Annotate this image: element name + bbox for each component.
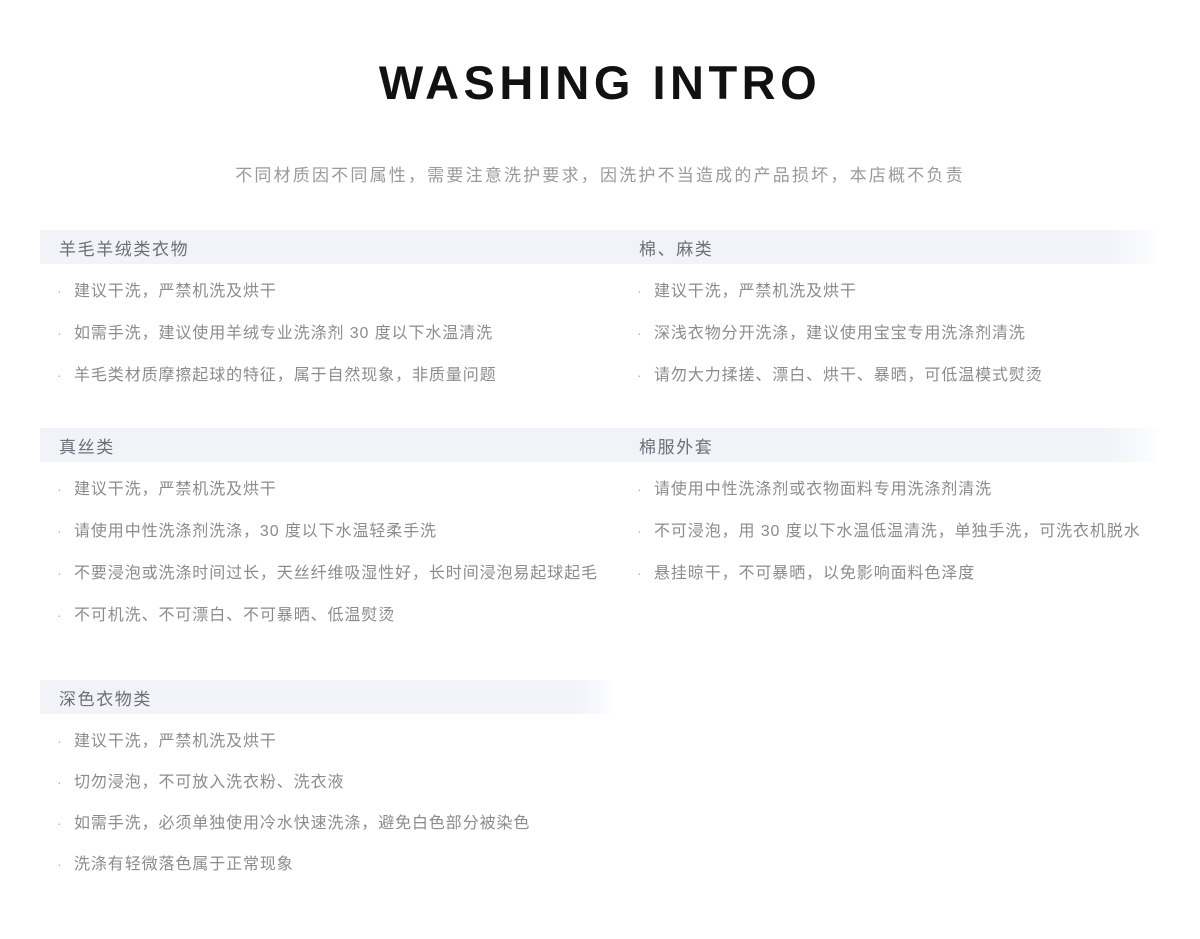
list-item: · 建议干洗，严禁机洗及烘干 xyxy=(57,476,620,503)
list-item: · 建议干洗，严禁机洗及烘干 xyxy=(57,278,620,305)
section-row-3-spacer xyxy=(620,680,1160,880)
list-item-text: 不可浸泡，用 30 度以下水温低温清洗，单独手洗，可洗衣机脱水 xyxy=(654,518,1160,545)
bullet-icon: · xyxy=(57,476,63,503)
list-item: · 羊毛类材质摩擦起球的特征，属于自然现象，非质量问题 xyxy=(57,362,620,389)
list-item-text: 深浅衣物分开洗涤，建议使用宝宝专用洗涤剂清洗 xyxy=(654,320,1160,347)
list-item: · 如需手洗，建议使用羊绒专业洗涤剂 30 度以下水温清洗 xyxy=(57,320,620,347)
list-item-text: 建议干洗，严禁机洗及烘干 xyxy=(74,278,620,305)
list-item-text: 建议干洗，严禁机洗及烘干 xyxy=(74,476,620,503)
section-title-padded-coat: 棉服外套 xyxy=(620,428,1160,462)
bullet-icon: · xyxy=(57,810,63,837)
list-item-text: 羊毛类材质摩擦起球的特征，属于自然现象，非质量问题 xyxy=(74,362,620,389)
list-item: · 建议干洗，严禁机洗及烘干 xyxy=(637,278,1160,305)
care-sections: 羊毛羊绒类衣物 · 建议干洗，严禁机洗及烘干 · 如需手洗，建议使用羊绒专业洗涤… xyxy=(40,230,1160,880)
section-padded-coat: 棉服外套 · 请使用中性洗涤剂或衣物面料专用洗涤剂清洗 · 不可浸泡，用 30 … xyxy=(620,428,1160,680)
page-subtitle: 不同材质因不同属性，需要注意洗护要求，因洗护不当造成的产品损坏，本店概不负责 xyxy=(0,162,1200,190)
list-item: · 建议干洗，严禁机洗及烘干 xyxy=(57,728,620,755)
list-item-text: 洗涤有轻微落色属于正常现象 xyxy=(74,851,620,878)
section-list-silk: · 建议干洗，严禁机洗及烘干 · 请使用中性洗涤剂洗涤，30 度以下水温轻柔手洗… xyxy=(40,476,620,629)
section-list-dark-clothes: · 建议干洗，严禁机洗及烘干 · 切勿浸泡，不可放入洗衣粉、洗衣液 · 如需手洗… xyxy=(40,728,620,878)
list-item: · 切勿浸泡，不可放入洗衣粉、洗衣液 xyxy=(57,769,620,796)
bullet-icon: · xyxy=(57,851,63,878)
list-item: · 请使用中性洗涤剂或衣物面料专用洗涤剂清洗 xyxy=(637,476,1160,503)
list-item: · 请使用中性洗涤剂洗涤，30 度以下水温轻柔手洗 xyxy=(57,518,620,545)
list-item-text: 不要浸泡或洗涤时间过长，天丝纤维吸湿性好，长时间浸泡易起球起毛 xyxy=(74,560,620,587)
bullet-icon: · xyxy=(637,320,643,347)
list-item: · 不可浸泡，用 30 度以下水温低温清洗，单独手洗，可洗衣机脱水 xyxy=(637,518,1160,545)
section-silk: 真丝类 · 建议干洗，严禁机洗及烘干 · 请使用中性洗涤剂洗涤，30 度以下水温… xyxy=(40,428,620,680)
section-row-1: 羊毛羊绒类衣物 · 建议干洗，严禁机洗及烘干 · 如需手洗，建议使用羊绒专业洗涤… xyxy=(40,230,1160,428)
list-item-text: 请勿大力揉搓、漂白、烘干、暴晒，可低温模式熨烫 xyxy=(654,362,1160,389)
list-item-text: 请使用中性洗涤剂或衣物面料专用洗涤剂清洗 xyxy=(654,476,1160,503)
bullet-icon: · xyxy=(57,602,63,629)
bullet-icon: · xyxy=(57,769,63,796)
bullet-icon: · xyxy=(57,728,63,755)
bullet-icon: · xyxy=(637,518,643,545)
section-list-wool-cashmere: · 建议干洗，严禁机洗及烘干 · 如需手洗，建议使用羊绒专业洗涤剂 30 度以下… xyxy=(40,278,620,389)
list-item: · 请勿大力揉搓、漂白、烘干、暴晒，可低温模式熨烫 xyxy=(637,362,1160,389)
bullet-icon: · xyxy=(57,362,63,389)
list-item-text: 切勿浸泡，不可放入洗衣粉、洗衣液 xyxy=(74,769,620,796)
page-title: WASHING INTRO xyxy=(0,52,1200,114)
list-item-text: 如需手洗，建议使用羊绒专业洗涤剂 30 度以下水温清洗 xyxy=(74,320,620,347)
section-wool-cashmere: 羊毛羊绒类衣物 · 建议干洗，严禁机洗及烘干 · 如需手洗，建议使用羊绒专业洗涤… xyxy=(40,230,620,428)
bullet-icon: · xyxy=(637,476,643,503)
bullet-icon: · xyxy=(637,560,643,587)
bullet-icon: · xyxy=(57,518,63,545)
section-list-cotton-linen: · 建议干洗，严禁机洗及烘干 · 深浅衣物分开洗涤，建议使用宝宝专用洗涤剂清洗 … xyxy=(620,278,1160,389)
list-item: · 洗涤有轻微落色属于正常现象 xyxy=(57,851,620,878)
section-title-silk: 真丝类 xyxy=(40,428,620,462)
list-item: · 悬挂晾干，不可暴晒，以免影响面料色泽度 xyxy=(637,560,1160,587)
list-item-text: 不可机洗、不可漂白、不可暴晒、低温熨烫 xyxy=(74,602,620,629)
list-item-text: 请使用中性洗涤剂洗涤，30 度以下水温轻柔手洗 xyxy=(74,518,620,545)
bullet-icon: · xyxy=(57,278,63,305)
section-list-padded-coat: · 请使用中性洗涤剂或衣物面料专用洗涤剂清洗 · 不可浸泡，用 30 度以下水温… xyxy=(620,476,1160,587)
section-row-3: 深色衣物类 · 建议干洗，严禁机洗及烘干 · 切勿浸泡，不可放入洗衣粉、洗衣液 … xyxy=(40,680,1160,880)
section-title-cotton-linen: 棉、麻类 xyxy=(620,230,1160,264)
section-dark-clothes: 深色衣物类 · 建议干洗，严禁机洗及烘干 · 切勿浸泡，不可放入洗衣粉、洗衣液 … xyxy=(40,680,620,880)
bullet-icon: · xyxy=(57,560,63,587)
bullet-icon: · xyxy=(57,320,63,347)
bullet-icon: · xyxy=(637,278,643,305)
list-item: · 不要浸泡或洗涤时间过长，天丝纤维吸湿性好，长时间浸泡易起球起毛 xyxy=(57,560,620,587)
list-item: · 深浅衣物分开洗涤，建议使用宝宝专用洗涤剂清洗 xyxy=(637,320,1160,347)
list-item-text: 如需手洗，必须单独使用冷水快速洗涤，避免白色部分被染色 xyxy=(74,810,620,837)
list-item: · 不可机洗、不可漂白、不可暴晒、低温熨烫 xyxy=(57,602,620,629)
list-item-text: 悬挂晾干，不可暴晒，以免影响面料色泽度 xyxy=(654,560,1160,587)
list-item-text: 建议干洗，严禁机洗及烘干 xyxy=(654,278,1160,305)
list-item-text: 建议干洗，严禁机洗及烘干 xyxy=(74,728,620,755)
section-title-dark-clothes: 深色衣物类 xyxy=(40,680,620,714)
section-title-wool-cashmere: 羊毛羊绒类衣物 xyxy=(40,230,620,264)
section-row-2: 真丝类 · 建议干洗，严禁机洗及烘干 · 请使用中性洗涤剂洗涤，30 度以下水温… xyxy=(40,428,1160,680)
bullet-icon: · xyxy=(637,362,643,389)
list-item: · 如需手洗，必须单独使用冷水快速洗涤，避免白色部分被染色 xyxy=(57,810,620,837)
washing-intro-page: WASHING INTRO 不同材质因不同属性，需要注意洗护要求，因洗护不当造成… xyxy=(0,0,1200,939)
section-cotton-linen: 棉、麻类 · 建议干洗，严禁机洗及烘干 · 深浅衣物分开洗涤，建议使用宝宝专用洗… xyxy=(620,230,1160,428)
